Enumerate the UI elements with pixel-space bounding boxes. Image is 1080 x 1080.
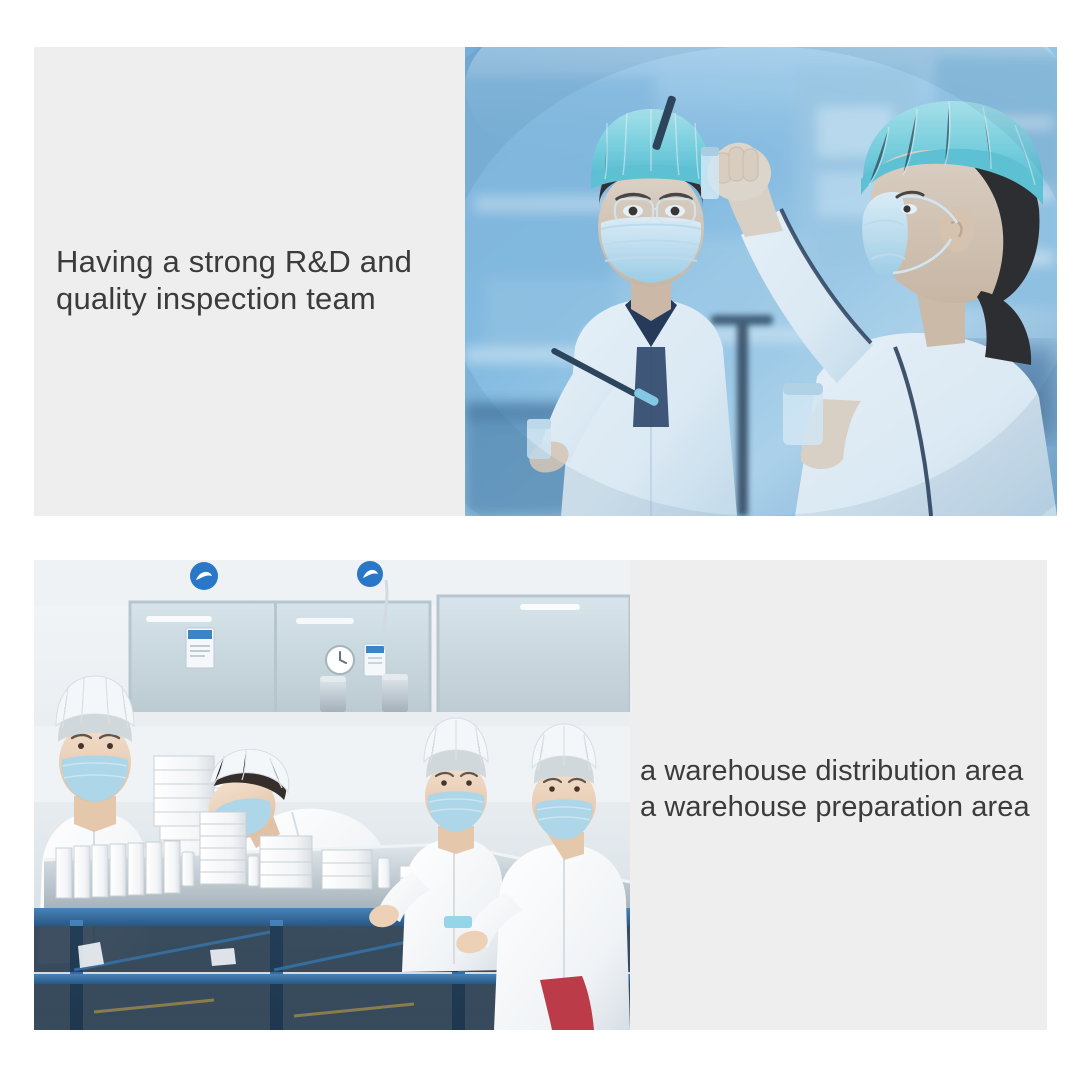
lab-inspection-photo — [465, 47, 1057, 516]
top-caption: Having a strong R&D and quality inspecti… — [56, 243, 456, 317]
top-section: Having a strong R&D and quality inspecti… — [34, 47, 1057, 516]
top-caption-line-2: quality inspection team — [56, 280, 456, 317]
warehouse-packing-illustration — [34, 560, 630, 1030]
bottom-caption-line-2: a warehouse preparation area — [640, 789, 1060, 825]
lab-inspection-illustration — [465, 47, 1057, 516]
bottom-caption-line-1: a warehouse distribution area — [640, 753, 1060, 789]
bottom-caption: a warehouse distribution area a warehous… — [640, 753, 1060, 825]
bottom-caption-panel: a warehouse distribution area a warehous… — [630, 560, 1047, 1030]
poster-canvas: Having a strong R&D and quality inspecti… — [0, 0, 1080, 1080]
bottom-section: a warehouse distribution area a warehous… — [34, 560, 1047, 1030]
top-caption-line-1: Having a strong R&D and — [56, 243, 456, 280]
warehouse-packing-photo — [34, 560, 630, 1030]
top-caption-panel: Having a strong R&D and quality inspecti… — [34, 47, 465, 516]
